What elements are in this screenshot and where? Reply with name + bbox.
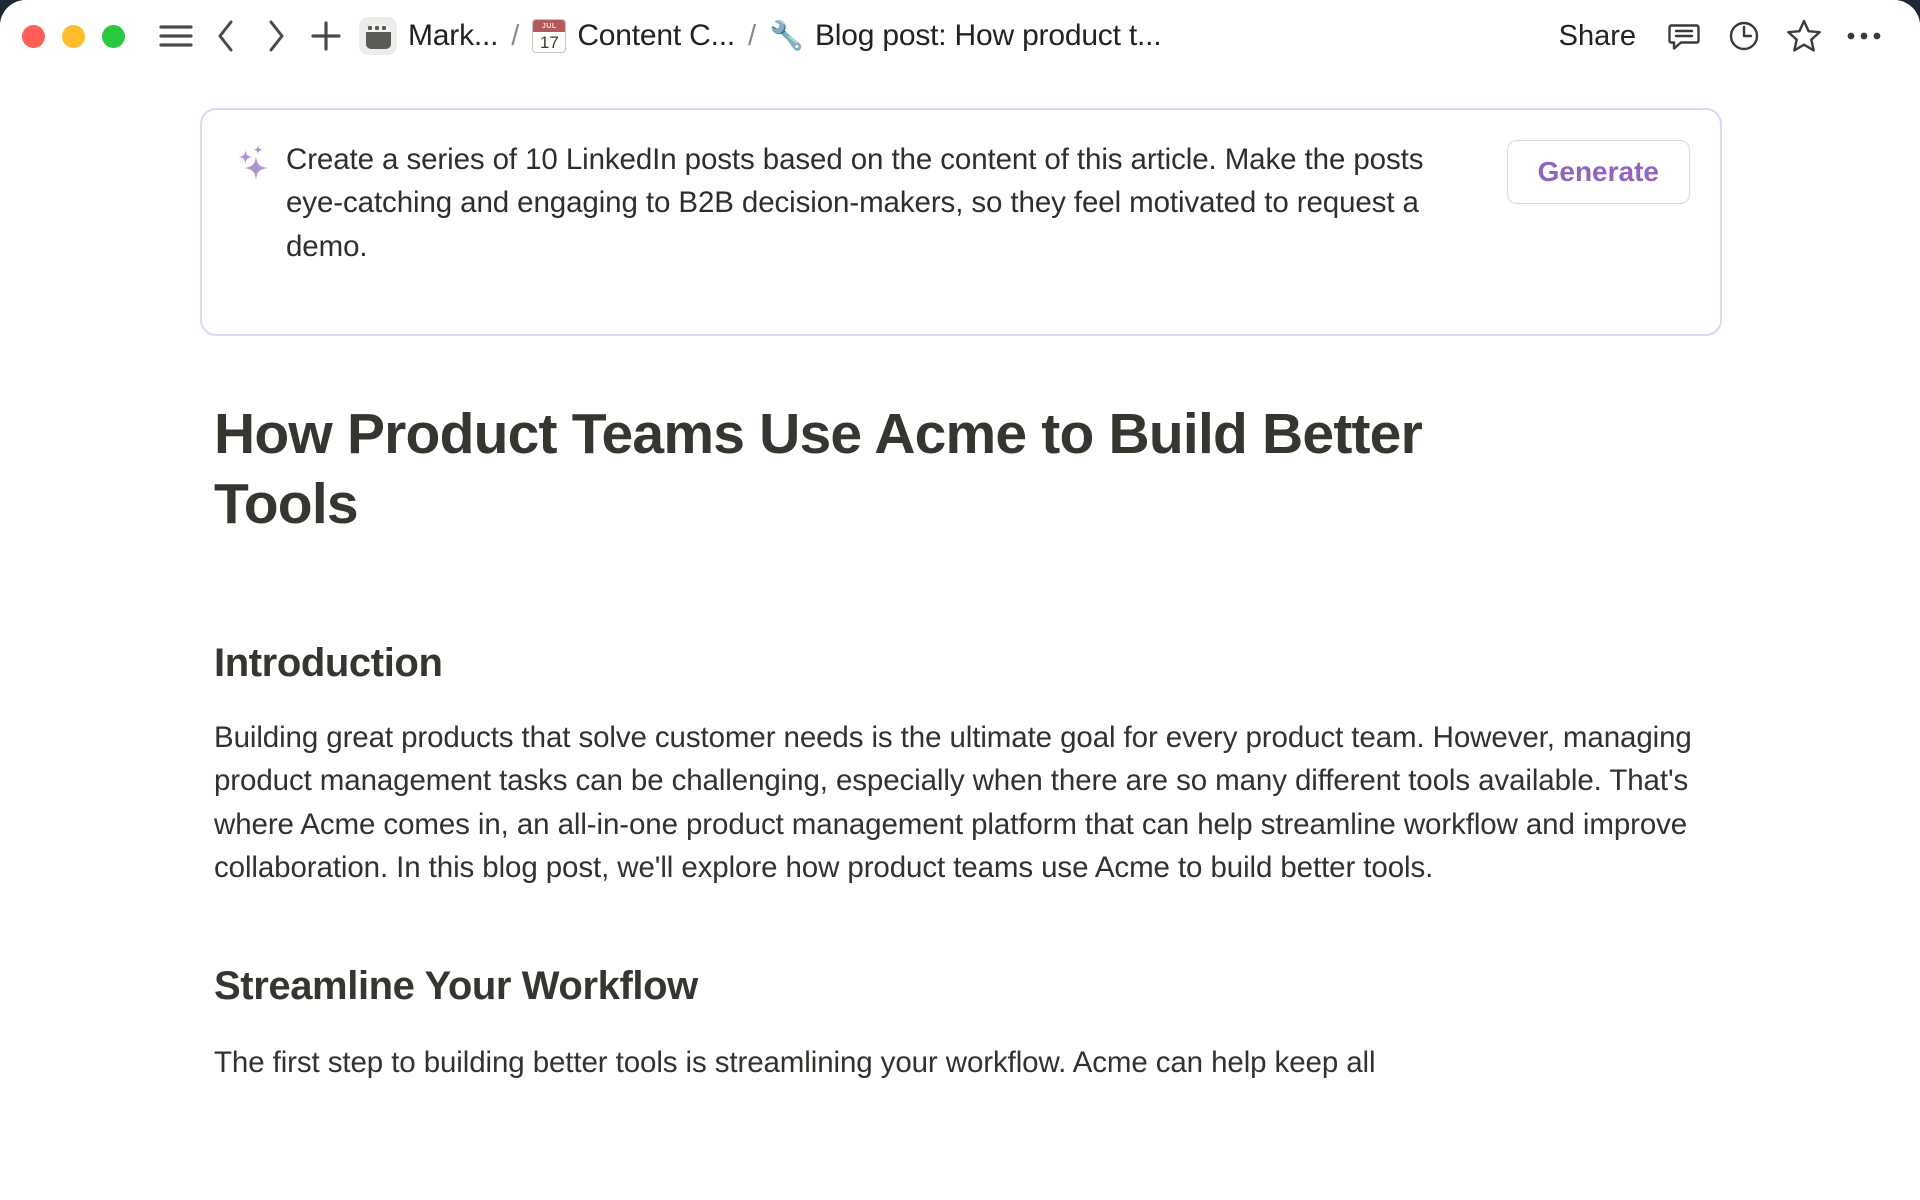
document-body: How Product Teams Use Acme to Build Bett… [214,400,1704,1084]
breadcrumb-item-content-calendar[interactable]: JUL 17 Content C... [532,19,735,53]
section-paragraph-introduction[interactable]: Building great products that solve custo… [214,716,1704,889]
more-icon[interactable] [1836,8,1892,64]
breadcrumb-item-marketing[interactable]: Mark... [359,17,498,55]
traffic-lights [22,25,125,48]
breadcrumb-label: Blog post: How product t... [815,19,1161,53]
breadcrumb-item-blog-post[interactable]: 🔧 Blog post: How product t... [769,19,1161,53]
navigation-icons [151,11,351,61]
maximize-window-button[interactable] [102,25,125,48]
share-button[interactable]: Share [1543,12,1652,61]
generate-button[interactable]: Generate [1507,140,1690,204]
sparkle-icon [228,138,280,188]
plus-icon[interactable] [301,11,351,61]
breadcrumb-separator: / [748,20,756,53]
close-window-button[interactable] [22,25,45,48]
section-heading-introduction[interactable]: Introduction [214,641,1704,686]
app-window: Mark... / JUL 17 Content C... / 🔧 Blog p… [0,0,1920,1200]
comment-icon[interactable] [1656,8,1712,64]
star-icon[interactable] [1776,8,1832,64]
chevron-left-icon[interactable] [201,11,251,61]
ai-prompt-text[interactable]: Create a series of 10 LinkedIn posts bas… [280,138,1507,268]
section-heading-streamline-your-workflow[interactable]: Streamline Your Workflow [214,964,1704,1009]
calendar-day: 17 [533,32,565,52]
menu-icon[interactable] [151,11,201,61]
breadcrumb: Mark... / JUL 17 Content C... / 🔧 Blog p… [359,17,1161,55]
wrench-icon: 🔧 [769,22,804,50]
section-paragraph-streamline-your-workflow[interactable]: The first step to building better tools … [214,1041,1704,1084]
title-bar: Mark... / JUL 17 Content C... / 🔧 Blog p… [0,0,1920,72]
calendar-icon: JUL 17 [532,19,566,53]
deck-icon [359,17,397,55]
ai-prompt-card: Create a series of 10 LinkedIn posts bas… [200,108,1722,336]
breadcrumb-separator: / [511,20,519,53]
page-title[interactable]: How Product Teams Use Acme to Build Bett… [214,400,1574,539]
titlebar-actions: Share [1543,8,1892,64]
history-icon[interactable] [1716,8,1772,64]
calendar-month: JUL [533,20,565,32]
minimize-window-button[interactable] [62,25,85,48]
breadcrumb-label: Content C... [577,19,735,53]
breadcrumb-label: Mark... [408,19,498,53]
chevron-right-icon[interactable] [251,11,301,61]
